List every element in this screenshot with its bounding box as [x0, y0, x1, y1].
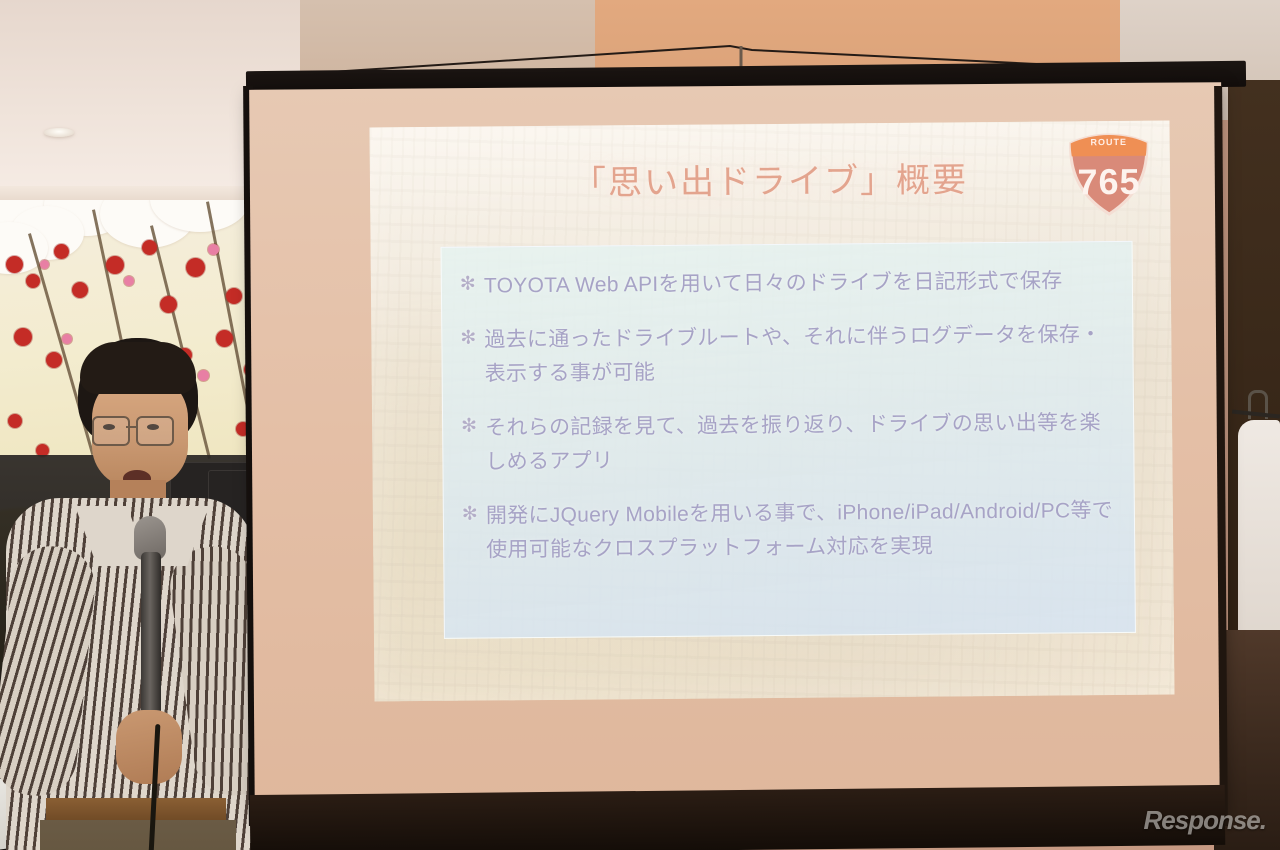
slide-bullet-4: ✻ 開発にJQuery Mobileを用いる事で、iPhone/iPad/And… — [462, 494, 1115, 568]
route-shield-number: 765 — [1066, 161, 1152, 204]
slide-bullet-text-2: 過去に通ったドライブルートや、それに伴うログデータを保存・表示する事が可能 — [484, 318, 1113, 392]
slide-bullet-text-4: 開発にJQuery Mobileを用いる事で、iPhone/iPad/Andro… — [486, 494, 1115, 568]
slide-bullet-text-3: それらの記録を見て、過去を振り返り、ドライブの思い出等を楽しめるアプリ — [485, 406, 1114, 480]
presentation-photo-scene: 「思い出ドライブ」概要 ROUTE 765 ✻ TOYOTA Web APIを用… — [0, 0, 1280, 850]
slide-bullet-2: ✻ 過去に通ったドライブルートや、それに伴うログデータを保存・表示する事が可能 — [460, 318, 1113, 392]
ceiling-downlight-icon — [44, 128, 74, 137]
route-shield-badge: ROUTE 765 — [1066, 133, 1153, 218]
slide-bullet-text-1: TOYOTA Web APIを用いて日々のドライブを日記形式で保存 — [484, 264, 1112, 303]
glasses-bridge — [126, 426, 138, 428]
bullet-asterisk-icon: ✻ — [461, 412, 486, 480]
bullet-asterisk-icon: ✻ — [460, 270, 484, 304]
glasses-lens-right — [136, 416, 174, 446]
presenter-trousers — [40, 820, 236, 850]
response-watermark: Response. — [1144, 805, 1267, 836]
presenter-hand — [116, 710, 182, 784]
slide-bullet-1: ✻ TOYOTA Web APIを用いて日々のドライブを日記形式で保存 — [460, 264, 1112, 304]
slide-content-box: ✻ TOYOTA Web APIを用いて日々のドライブを日記形式で保存 ✻ 過去… — [441, 241, 1136, 639]
bullet-asterisk-icon: ✻ — [462, 500, 487, 568]
bullet-asterisk-icon: ✻ — [460, 324, 485, 392]
projected-slide: 「思い出ドライブ」概要 ROUTE 765 ✻ TOYOTA Web APIを用… — [370, 121, 1175, 702]
screen-bottom-shadow — [250, 785, 1226, 850]
glasses-lens-left — [92, 416, 130, 446]
route-shield-label: ROUTE — [1066, 137, 1152, 148]
hanging-shirt — [1238, 420, 1280, 660]
presenter-person — [0, 320, 275, 850]
microphone-body — [141, 552, 161, 732]
slide-title: 「思い出ドライブ」概要 — [370, 151, 1170, 207]
slide-bullet-3: ✻ それらの記録を見て、過去を振り返り、ドライブの思い出等を楽しめるアプリ — [461, 406, 1114, 480]
presenter-fringe — [80, 342, 196, 394]
